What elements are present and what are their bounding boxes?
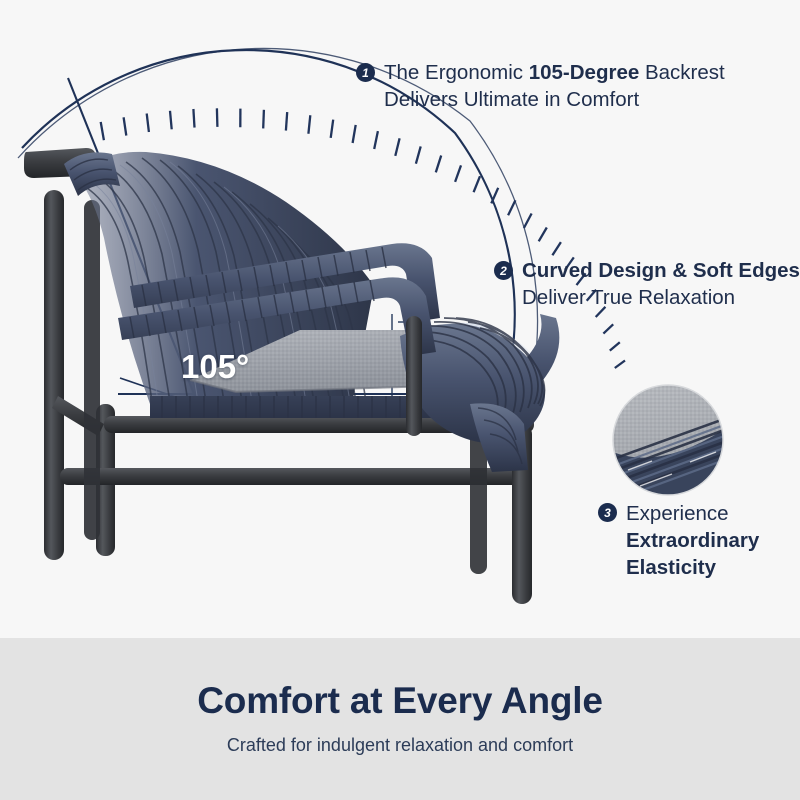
callout-1-line1-pre: The Ergonomic: [384, 61, 529, 84]
banner-subtitle: Crafted for indulgent relaxation and com…: [227, 735, 573, 756]
callout-2-text: Curved Design & Soft Edges Deliver True …: [522, 258, 800, 311]
callout-3: 3 Experience Extraordinary Elasticity: [598, 500, 756, 581]
hero-image-area: 105° 1 The Ergonomic 105-Degree Backrest…: [0, 0, 800, 638]
banner-title: Comfort at Every Angle: [197, 682, 602, 721]
infographic-canvas: 105° 1 The Ergonomic 105-Degree Backrest…: [0, 0, 800, 800]
bottom-banner: Comfort at Every Angle Crafted for indul…: [0, 638, 800, 800]
callout-3-badge: 3: [598, 503, 617, 522]
detail-circle-magnifier: [605, 385, 735, 504]
callout-2: 2 Curved Design & Soft Edges Deliver Tru…: [494, 258, 800, 311]
callout-3-line2: Extraordinary: [626, 527, 756, 554]
callout-1-line1-post: Backrest: [639, 61, 724, 84]
lower-stretcher: [60, 468, 530, 485]
callout-2-line2: Deliver True Relaxation: [522, 285, 800, 312]
callout-1-badge: 1: [356, 63, 375, 82]
angle-value-label: 105°: [181, 348, 249, 386]
callout-1-line1-bold: 105-Degree: [529, 61, 640, 84]
callout-1: 1 The Ergonomic 105-Degree Backrest Deli…: [356, 60, 725, 113]
callout-1-line2: Delivers Ultimate in Comfort: [384, 87, 725, 114]
callout-2-badge: 2: [494, 261, 513, 280]
arm-support-post: [406, 316, 422, 436]
callout-3-line1: Experience: [626, 500, 756, 527]
callout-2-line1: Curved Design & Soft Edges: [522, 258, 800, 285]
callout-1-text: The Ergonomic 105-Degree Backrest Delive…: [384, 60, 725, 113]
callout-3-text: Experience Extraordinary Elasticity: [626, 500, 756, 581]
callout-3-line3: Elasticity: [626, 554, 756, 581]
